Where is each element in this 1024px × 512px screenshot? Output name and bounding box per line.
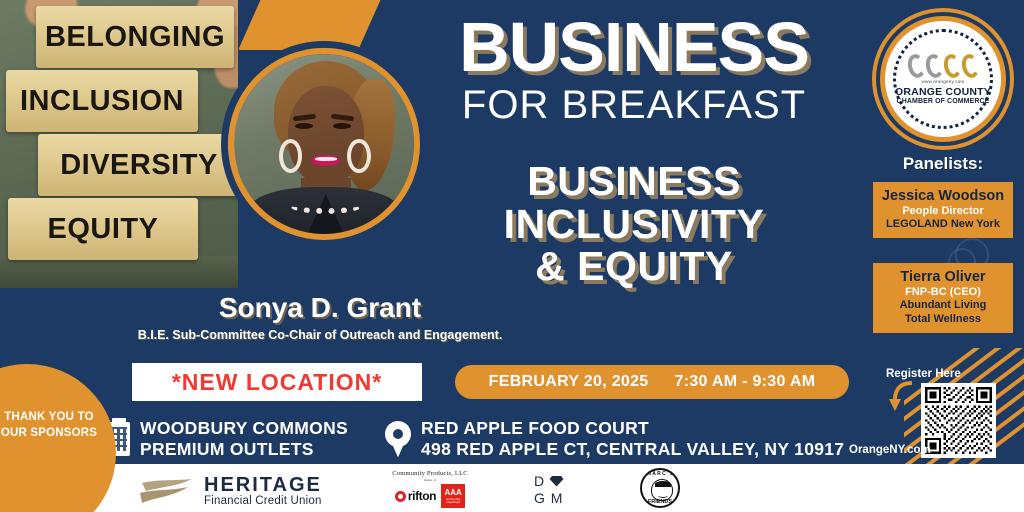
venue-name-line2: PREMIUM OUTLETS [140,439,348,460]
headline: BUSINESS FOR BREAKFAST [406,14,862,127]
sponsor-bar: HERITAGE Financial Credit Union Communit… [0,464,1024,512]
panelists-label: Panelists: [862,154,1024,174]
community-playthings-glyph: AAA [444,489,461,497]
sponsor-dgm: D G M [534,474,564,506]
thank-you-line1: THANK YOU TO [4,410,94,426]
thank-you-sponsors-badge: THANK YOU TO OUR SPONSORS [0,364,116,512]
portrait-earring-left [279,139,302,173]
curved-arrow-icon [888,380,918,414]
marcs-friends-logo: M A R C ' S FRIENDS [640,468,680,508]
chamber-logo: www.orangeny.com ORANGE COUNTY CHAMBER O… [880,16,1006,142]
heritage-name: HERITAGE [204,475,322,495]
sponsor-community-products: Community Products, LLC maker of rifton … [374,470,486,508]
venue-place: RED APPLE FOOD COURT [421,418,844,439]
marcs-top-text: M A R C ' S [642,471,678,477]
subheadline-line2: INCLUSIVITY [406,203,862,246]
panelist-1-name: Jessica Woodson [877,188,1009,205]
photo-shelf [0,256,238,288]
address-text: RED APPLE FOOD COURT 498 RED APPLE CT, C… [421,418,844,461]
address-block: RED APPLE FOOD COURT 498 RED APPLE CT, C… [385,418,844,461]
panelist-card-2: Tierra Oliver FNP-BC (CEO) Abundant Livi… [873,263,1013,333]
panelist-card-1: Jessica Woodson People Director LEGOLAND… [873,182,1013,238]
map-pin-icon [385,421,411,457]
rifton-name: rifton [408,489,436,503]
community-playthings-logo: AAA community playthings [441,484,465,508]
event-time: 7:30 AM - 9:30 AM [675,373,816,391]
headline-business: BUSINESS [406,14,862,81]
orange-accent-wedge [238,0,386,50]
speaker-portrait [228,48,420,240]
portrait-teeth [315,157,337,161]
dgm-letter-g: G [534,490,546,506]
logo-dotted-ring [893,29,993,129]
dgm-letter-d: D [534,474,544,488]
event-flyer: BELONGING INCLUSION DIVERSITY EQUITY BUS… [0,0,1024,512]
heritage-swoosh-icon [140,477,196,505]
community-products-name: Community Products, LLC [374,470,486,477]
marcs-face-icon [651,479,673,501]
speaker-photo [234,54,414,234]
headline-for-breakfast: FOR BREAKFAST [406,83,862,127]
subheadline-line1: BUSINESS [406,160,862,203]
panelist-2-org: Abundant Living [877,299,1009,313]
panelist-2-role: FNP-BC (CEO) [877,286,1009,300]
panelist-1-role: People Director [877,205,1009,219]
website-url[interactable]: OrangeNY.com [849,444,931,456]
block-equity: EQUITY [8,198,198,260]
sponsor-marcs-friends: M A R C ' S FRIENDS [640,468,682,508]
community-playthings-sub: community playthings [441,498,465,504]
venue-block: WOODBURY COMMONS PREMIUM OUTLETS [108,418,348,461]
panelist-2-name: Tierra Oliver [877,269,1009,286]
block-diversity: DIVERSITY [38,134,238,196]
panelist-2-org2: Total Wellness [877,313,1009,327]
portrait-earring-right [347,139,370,173]
venue-address: 498 RED APPLE CT, CENTRAL VALLEY, NY 109… [421,439,844,460]
block-belonging: BELONGING [36,6,234,68]
rifton-logo: rifton [395,489,436,503]
dgm-letter-m: M [551,490,564,506]
date-time-pill: FEBRUARY 20, 2025 7:30 AM - 9:30 AM [455,365,849,399]
thank-you-line2: OUR SPONSORS [1,426,97,442]
block-inclusion: INCLUSION [6,70,198,132]
subheadline: BUSINESS INCLUSIVITY & EQUITY [406,160,862,288]
community-products-sub: maker of [374,478,486,482]
dgm-row-1: D [534,474,564,488]
qr-code[interactable] [921,383,996,458]
speaker-title: B.I.E. Sub-Committee Co-Chair of Outreac… [80,328,560,342]
marcs-bottom-text: FRIENDS [642,499,678,505]
new-location-badge: *NEW LOCATION* [132,363,422,401]
qr-code-image [925,387,992,454]
diamond-icon [549,475,564,487]
panelist-1-org: LEGOLAND New York [877,218,1009,232]
heritage-tagline: Financial Credit Union [204,495,322,507]
rifton-mark-icon [395,491,406,502]
speaker-name: Sonya D. Grant [110,292,530,324]
dgm-row-2: G M [534,490,564,506]
venue-name: WOODBURY COMMONS PREMIUM OUTLETS [140,418,348,461]
sponsor-heritage: HERITAGE Financial Credit Union [140,475,322,507]
event-date: FEBRUARY 20, 2025 [489,373,649,391]
heritage-text: HERITAGE Financial Credit Union [204,475,322,507]
wooden-blocks-photo: BELONGING INCLUSION DIVERSITY EQUITY [0,0,238,288]
register-here-label: Register Here [886,368,961,380]
venue-name-line1: WOODBURY COMMONS [140,418,348,439]
community-products-brands: rifton AAA community playthings [374,484,486,508]
subheadline-line3: & EQUITY [406,245,862,288]
